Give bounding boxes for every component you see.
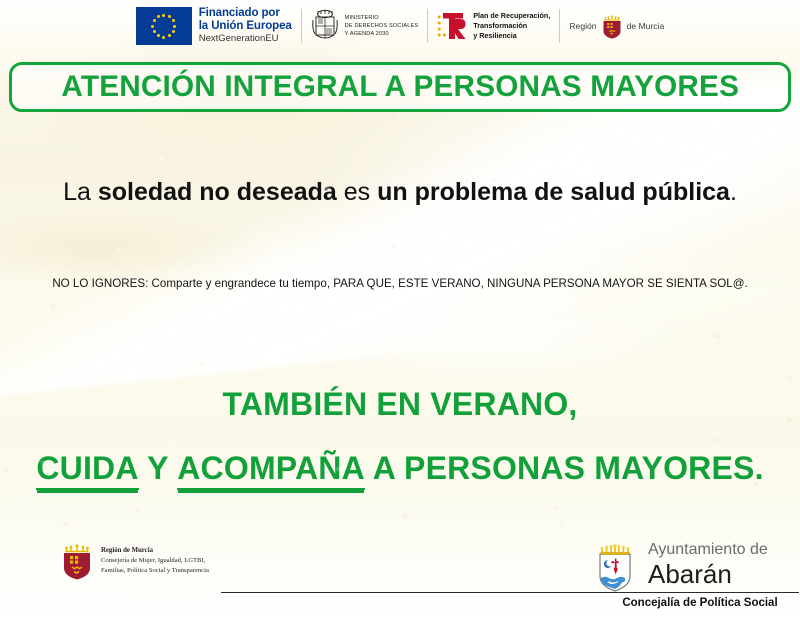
paper-speck [510, 256, 514, 258]
eu-star-icon [157, 34, 160, 37]
ayuntamiento-abaran-logo: Ayuntamiento de Abarán [592, 542, 768, 594]
paper-speck [415, 383, 416, 384]
paper-speck [63, 523, 67, 525]
prtr-logo-text: Plan de Recuperación, Transformación y R… [473, 11, 550, 40]
paper-speck [200, 364, 204, 367]
paper-speck [334, 173, 337, 175]
consejeria-line1: Región de Murcia [101, 546, 209, 556]
prtr-mark-icon [437, 10, 467, 42]
ministerio-line1: MINISTERIO [345, 14, 419, 22]
subtitle-part4: un problema de salud pública [377, 178, 730, 206]
slogan-line2-mid: Y [139, 450, 178, 486]
murcia-shield-icon [602, 13, 622, 39]
paper-speck [652, 379, 657, 382]
eu-star-icon [168, 15, 171, 18]
abaran-text: Ayuntamiento de Abarán [648, 542, 768, 588]
eu-star-icon [162, 36, 165, 39]
eu-star-icon [153, 30, 156, 33]
consejeria-text: Región de Murcia Consejería de Mujer, Ig… [101, 546, 209, 576]
region-murcia-word-left: Región [569, 21, 596, 31]
paper-speck [680, 434, 682, 435]
slogan-line-1: TAMBIÉN EN VERANO, [0, 386, 800, 423]
paper-speck [716, 439, 720, 441]
subtitle-part3: es [337, 178, 377, 206]
paper-speck [134, 260, 137, 262]
institutional-logo-strip: Financiado por la Unión Europea NextGene… [0, 2, 800, 50]
eu-star-icon [172, 30, 175, 33]
poster-note: NO LO IGNORES: Comparte y engrandece tu … [0, 277, 800, 290]
slogan-emphasis-cuida: CUIDA [36, 450, 138, 490]
logo-divider [559, 9, 560, 43]
eu-logo-line2: la Unión Europea [199, 20, 292, 33]
plan-recuperacion-logo: Plan de Recuperación, Transformación y R… [437, 10, 550, 42]
paper-speck [577, 427, 579, 428]
region-murcia-consejeria-logo: Región de Murcia Consejería de Mujer, Ig… [62, 541, 209, 581]
paper-speck [303, 438, 306, 440]
paper-speck [392, 246, 395, 248]
paper-speck [418, 246, 421, 248]
eu-star-icon [168, 34, 171, 37]
page-title: ATENCIÓN INTEGRAL A PERSONAS MAYORES [61, 70, 739, 104]
paper-speck [144, 314, 146, 315]
consejeria-line2: Consejería de Mujer, Igualdad, LGTBI, [101, 556, 209, 566]
paper-speck [159, 157, 164, 160]
paper-speck [538, 346, 542, 348]
slogan-line-2: CUIDA Y ACOMPAÑA A PERSONAS MAYORES. [0, 450, 800, 490]
paper-speck [403, 514, 407, 517]
paper-speck [188, 320, 191, 322]
paper-speck [773, 251, 776, 253]
paper-speck [384, 349, 386, 350]
paper-speck [28, 503, 32, 505]
abaran-line1: Ayuntamiento de [648, 542, 768, 558]
ministerio-line2: DE DERECHOS SOCIALES [345, 22, 419, 30]
paper-speck [392, 114, 395, 116]
logo-divider [301, 9, 302, 43]
paper-speck [117, 248, 122, 251]
eu-star-icon [162, 14, 165, 17]
abaran-line2: Abarán [648, 560, 768, 588]
paper-speck [328, 234, 330, 235]
prtr-line2: Transformación [473, 21, 550, 31]
paper-speck [171, 444, 174, 446]
paper-speck [261, 495, 263, 496]
poster-subtitle: La soledad no deseada es un problema de … [0, 178, 800, 207]
paper-speck [56, 264, 60, 266]
paper-speck [553, 508, 556, 510]
consejeria-line3: Familias, Política Social y Transparenci… [101, 566, 209, 576]
eu-logo-text: Financiado por la Unión Europea NextGene… [199, 7, 292, 44]
logo-divider [427, 9, 428, 43]
paper-speck [243, 139, 247, 141]
paper-speck [135, 509, 140, 512]
paper-speck [561, 525, 563, 526]
poster-title-box: ATENCIÓN INTEGRAL A PERSONAS MAYORES [9, 62, 791, 112]
eu-star-icon [151, 25, 154, 28]
murcia-shield-icon [62, 541, 92, 581]
ministerio-logo-text: MINISTERIO DE DERECHOS SOCIALES Y AGENDA… [345, 14, 419, 38]
eu-logo-line3: NextGenerationEU [199, 34, 292, 45]
abaran-coat-of-arms-icon [592, 542, 638, 594]
paper-speck [68, 293, 71, 295]
eu-logo-line1: Financiado por [199, 7, 292, 20]
paper-speck [473, 302, 475, 303]
slogan-emphasis-acompana: ACOMPAÑA [177, 450, 365, 490]
eu-flag-icon [136, 7, 192, 45]
region-de-murcia-logo: Región de Murcia [569, 13, 664, 39]
slogan-line2-tail: A PERSONAS MAYORES. [365, 450, 764, 486]
eu-nextgeneration-logo: Financiado por la Unión Europea NextGene… [136, 7, 292, 45]
region-murcia-word-right: de Murcia [627, 21, 665, 31]
paper-speck [715, 335, 719, 338]
paper-speck [712, 519, 714, 520]
eu-star-icon [173, 25, 176, 28]
paper-speck [74, 233, 76, 234]
eu-star-icon [153, 19, 156, 22]
ministerio-derechos-sociales-logo: MINISTERIO DE DERECHOS SOCIALES Y AGENDA… [311, 8, 419, 44]
subtitle-part5: . [730, 178, 737, 206]
paper-speck [717, 341, 721, 343]
eu-star-icon [172, 19, 175, 22]
spain-coat-of-arms-icon [311, 8, 339, 44]
subtitle-part2: soledad no deseada [98, 178, 337, 206]
prtr-line1: Plan de Recuperación, [473, 11, 550, 21]
concejalia-label: Concejalía de Política Social [600, 597, 800, 609]
background-texture-sweep [0, 69, 800, 400]
paper-speck [163, 330, 165, 331]
subtitle-part1: La [63, 178, 98, 206]
paper-speck [126, 298, 129, 300]
prtr-line3: y Resiliencia [473, 31, 550, 41]
ministerio-line3: Y AGENDA 2030 [345, 30, 419, 38]
paper-speck [378, 164, 381, 166]
paper-speck [788, 377, 791, 379]
paper-speck [90, 259, 92, 260]
paper-speck [51, 305, 56, 308]
paper-speck [232, 140, 233, 141]
eu-star-icon [157, 15, 160, 18]
poster-canvas: Financiado por la Unión Europea NextGene… [0, 0, 800, 618]
